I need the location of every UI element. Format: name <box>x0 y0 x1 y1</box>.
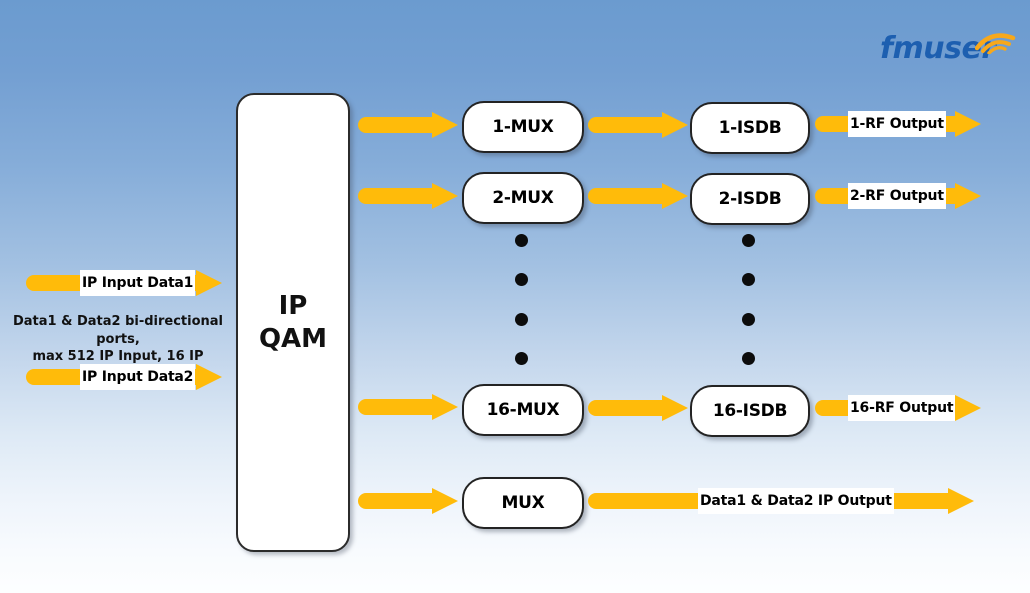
ip-qam-box: IP QAM <box>236 93 350 552</box>
wifi-arcs-icon <box>975 28 1019 54</box>
mux-to-isdb-arrow-2 <box>588 183 688 209</box>
arrow-shaft <box>588 188 662 204</box>
ip-input-data1-label: IP Input Data1 <box>80 270 195 296</box>
qam-to-mux-arrow-1 <box>358 112 458 138</box>
data-ip-output-arrow: Data1 & Data2 IP Output <box>588 488 974 514</box>
node-mux-2: 2-MUX <box>462 172 584 224</box>
arrow-head <box>432 394 458 420</box>
node-isdb-16: 16-ISDB <box>690 385 810 437</box>
arrow-head <box>948 488 974 514</box>
ellipsis-dot <box>515 273 528 286</box>
node-mux-1: 1-MUX <box>462 101 584 153</box>
rf-output-label-16: 16-RF Output <box>848 395 955 421</box>
ellipsis-dot <box>742 234 755 247</box>
arrow-head <box>196 364 222 390</box>
arrow-shaft <box>358 188 432 204</box>
arrow-head <box>662 112 688 138</box>
qam-to-mux-arrow-2 <box>358 183 458 209</box>
diagram-canvas: fmuser IP Input Data1 Data1 & Data2 bi-d… <box>0 0 1030 593</box>
node-isdb-1: 1-ISDB <box>690 102 810 154</box>
arrow-shaft <box>358 493 432 509</box>
node-isdb-2: 2-ISDB <box>690 173 810 225</box>
ellipsis-dot <box>515 313 528 326</box>
rf-output-arrow-2: 2-RF Output <box>815 183 981 209</box>
ellipsis-dot <box>742 313 755 326</box>
rf-output-label-1: 1-RF Output <box>848 111 946 137</box>
ip-input-data2-label: IP Input Data2 <box>80 364 195 390</box>
arrow-shaft <box>588 400 662 416</box>
arrow-head <box>432 183 458 209</box>
arrow-head <box>662 395 688 421</box>
rf-output-arrow-16: 16-RF Output <box>815 395 981 421</box>
arrow-head <box>432 488 458 514</box>
arrow-head <box>432 112 458 138</box>
arrow-shaft <box>358 117 432 133</box>
ip-input-data1-arrow: IP Input Data1 <box>26 270 222 296</box>
rf-output-label-2: 2-RF Output <box>848 183 946 209</box>
arrow-shaft <box>358 399 432 415</box>
arrow-head <box>955 395 981 421</box>
qam-to-mux-arrow-16 <box>358 394 458 420</box>
arrow-head <box>662 183 688 209</box>
ellipsis-dot <box>742 352 755 365</box>
mux-to-isdb-arrow-1 <box>588 112 688 138</box>
ip-qam-label: IP QAM <box>259 290 327 355</box>
arrow-shaft <box>588 117 662 133</box>
arrow-head <box>955 111 981 137</box>
ellipsis-dot <box>742 273 755 286</box>
node-mux-data: MUX <box>462 477 584 529</box>
ellipsis-dot <box>515 234 528 247</box>
node-mux-16: 16-MUX <box>462 384 584 436</box>
fmuser-logo: fmuser <box>880 28 1020 74</box>
ellipsis-dot <box>515 352 528 365</box>
mux-to-isdb-arrow-16 <box>588 395 688 421</box>
rf-output-arrow-1: 1-RF Output <box>815 111 981 137</box>
ip-input-data2-arrow: IP Input Data2 <box>26 364 222 390</box>
data-ip-output-label: Data1 & Data2 IP Output <box>698 488 894 514</box>
arrow-head <box>955 183 981 209</box>
arrow-head <box>196 270 222 296</box>
qam-to-mux-arrow-data <box>358 488 458 514</box>
